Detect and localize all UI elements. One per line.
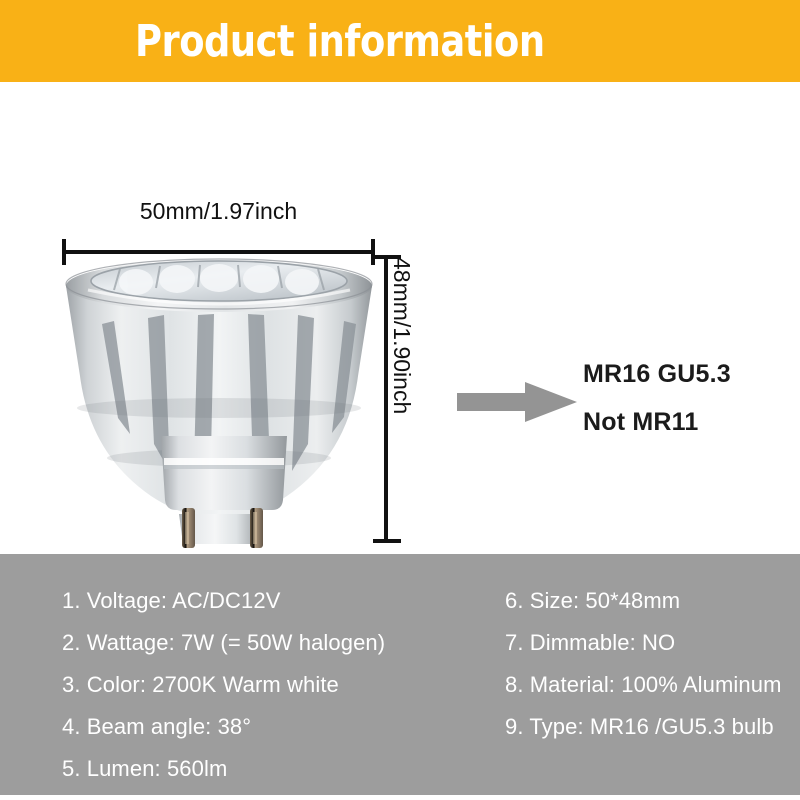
- callout-line-2: Not MR11: [583, 408, 798, 437]
- header-banner: Product information: [0, 0, 800, 82]
- callout-line-1: MR16 GU5.3: [583, 360, 798, 389]
- spec-item: 6. Size: 50*48mm: [505, 580, 800, 622]
- dimension-height-label: 48mm/1.90inch: [388, 257, 415, 414]
- specifications-panel: 1. Voltage: AC/DC12V 2. Wattage: 7W (= 5…: [0, 554, 800, 795]
- product-base-gu53: [158, 434, 290, 552]
- specifications-columns: 1. Voltage: AC/DC12V 2. Wattage: 7W (= 5…: [0, 554, 800, 795]
- spec-item: 9. Type: MR16 /GU5.3 bulb: [505, 706, 800, 748]
- spec-item: 8. Material: 100% Aluminum: [505, 664, 800, 706]
- spec-item: 1. Voltage: AC/DC12V: [62, 580, 492, 622]
- specifications-right-column: 6. Size: 50*48mm 7. Dimmable: NO 8. Mate…: [505, 580, 800, 748]
- spec-item: 4. Beam angle: 38°: [62, 706, 492, 748]
- product-diagram-area: 50mm/1.97inch 48mm/1.90inch: [0, 82, 800, 554]
- dimension-bar: [62, 250, 375, 254]
- spec-item: 7. Dimmable: NO: [505, 622, 800, 664]
- dimension-width-label: 50mm/1.97inch: [62, 198, 375, 225]
- spec-item: 3. Color: 2700K Warm white: [62, 664, 492, 706]
- right-arrow-icon: [455, 380, 579, 424]
- spec-item: 2. Wattage: 7W (= 50W halogen): [62, 622, 492, 664]
- specifications-left-column: 1. Voltage: AC/DC12V 2. Wattage: 7W (= 5…: [62, 580, 492, 790]
- spec-item: 5. Lumen: 560lm: [62, 748, 492, 790]
- callout-text-block: MR16 GU5.3 Not MR11: [583, 360, 798, 437]
- page-title: Product information: [135, 0, 545, 82]
